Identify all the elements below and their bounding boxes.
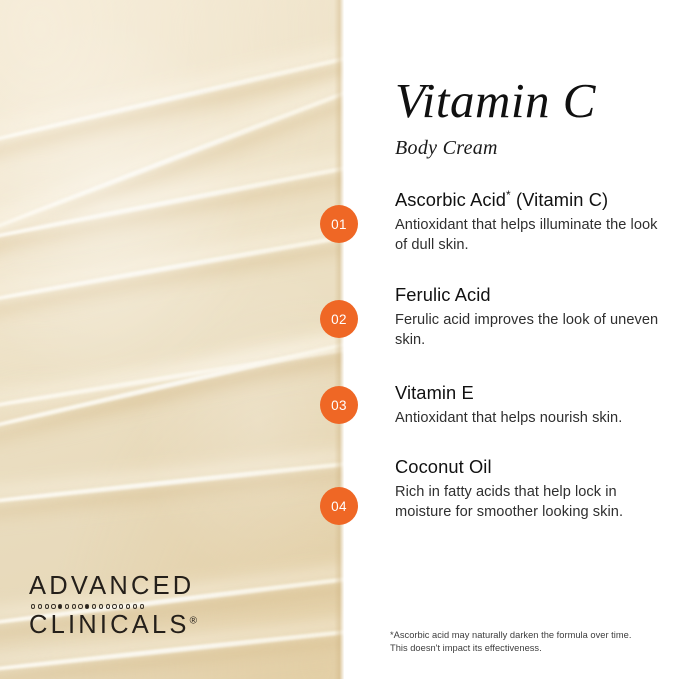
product-title: Vitamin C (395, 76, 675, 125)
ingredient-name-01-text: Ascorbic Acid (395, 189, 506, 210)
ingredient-name-01: Ascorbic Acid* (Vitamin C) (395, 189, 673, 211)
ingredient-description-04: Rich in fatty acids that help lock in mo… (395, 482, 673, 523)
ingredient-badge-02: 02 (320, 300, 358, 338)
brand-logo: ADVANCED CLINICALS® (29, 574, 197, 638)
ingredient-description-02: Ferulic acid improves the look of uneven… (395, 310, 673, 351)
ingredient-block-04: Coconut Oil Rich in fatty acids that hel… (395, 456, 673, 523)
ingredient-badge-01: 01 (320, 205, 358, 243)
content-panel: Vitamin C Body Cream Ascorbic Acid* (Vit… (344, 0, 679, 679)
product-subtitle: Body Cream (395, 138, 675, 158)
ingredient-description-01: Antioxidant that helps illuminate the lo… (395, 215, 673, 256)
ingredient-block-03: Vitamin E Antioxidant that helps nourish… (395, 382, 673, 428)
title-block: Vitamin C Body Cream (395, 76, 675, 158)
brand-logo-line-2: CLINICALS® (29, 613, 197, 639)
registered-trademark-icon: ® (190, 615, 197, 626)
ingredient-badge-04: 04 (320, 487, 358, 525)
ingredient-name-02: Ferulic Acid (395, 284, 673, 306)
brand-logo-line-1: ADVANCED (29, 574, 197, 600)
ingredient-description-03: Antioxidant that helps nourish skin. (395, 408, 673, 429)
brand-logo-dot-rule (31, 604, 197, 610)
product-infographic: ADVANCED CLINICALS® Vitamin C Body Cream… (0, 0, 679, 679)
ingredient-name-04: Coconut Oil (395, 456, 673, 478)
brand-logo-line-2-text: CLINICALS (29, 611, 190, 639)
ingredient-name-03: Vitamin E (395, 382, 673, 404)
footnote-text: *Ascorbic acid may naturally darken the … (390, 629, 635, 655)
ingredient-name-01-suffix: (Vitamin C) (511, 189, 608, 210)
ingredient-block-02: Ferulic Acid Ferulic acid improves the l… (395, 284, 673, 351)
ingredient-badge-03: 03 (320, 386, 358, 424)
ingredient-block-01: Ascorbic Acid* (Vitamin C) Antioxidant t… (395, 189, 673, 256)
